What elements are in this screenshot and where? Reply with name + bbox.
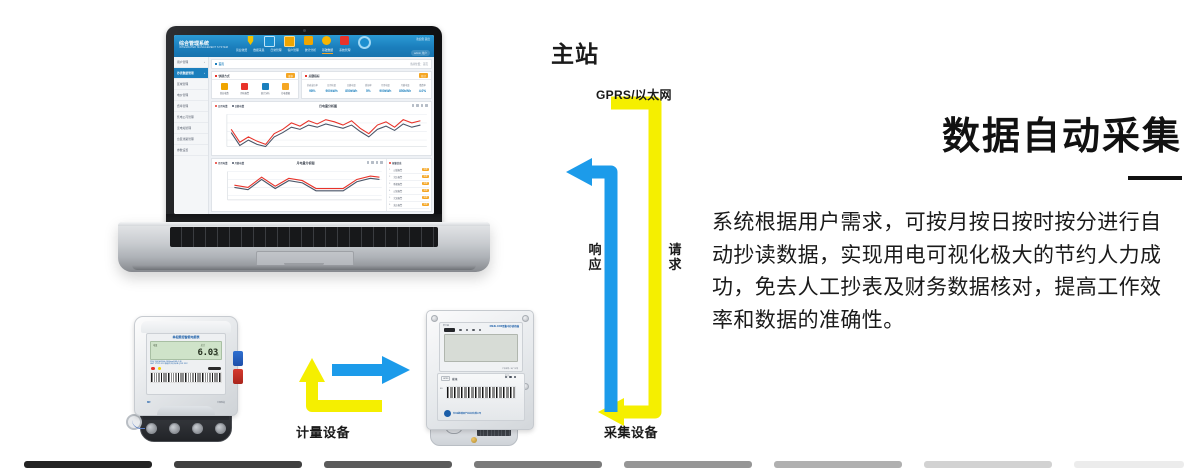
tab-home[interactable]: 首页	[215, 62, 224, 66]
meter-blue-button[interactable]	[233, 351, 243, 366]
erp-header: 综合管理系统 INTEGRATED MANAGEMENT SYSTEM	[174, 35, 434, 57]
collector-barcode-number: NO.	[440, 388, 443, 390]
sidebar-label-6: 变电站管理	[177, 126, 191, 130]
gprs-tag: GPRS	[441, 376, 450, 381]
menu-item-6[interactable]: 系统管理	[339, 48, 350, 54]
sidebar-item-3[interactable]: 电价管理	[174, 90, 208, 101]
alarm-n-4: 5	[389, 197, 392, 199]
sidebar-label-3: 电价管理	[177, 93, 188, 97]
metering-device-label: 计量设备	[296, 422, 350, 441]
monthly-chart-title: 月电量分析图	[297, 161, 315, 165]
erp-menu[interactable]: 营业收费 数据采集 日常管理 客户管理 统计分析 基础数据 系统管理	[236, 48, 350, 54]
tab-dot-icon	[215, 63, 217, 65]
doc-icon	[282, 83, 289, 90]
kpi-value-3: 5%	[365, 89, 372, 93]
collector-module-panel: GPRS 模 块 信号指示灯 NO. 长沙威胜能源产业技术有限公司	[437, 373, 525, 421]
collector-device: 集中器 XMJH-1000型集中抄表终端 产品编号 / 出厂日期 GPRS 模 …	[420, 306, 538, 446]
calendar-icon[interactable]	[284, 36, 295, 47]
promo-body: 系统根据用户需求，可按月按日按时按分进行自动抄读数据，实现用电可视化极大的节约人…	[712, 207, 1182, 337]
kpi-2: 日峰电量850kWh	[345, 83, 357, 93]
daily-legend-0: 日用电量	[215, 104, 228, 108]
alarm-list-title: 报警信息	[392, 161, 402, 165]
monthly-chart-tools[interactable]	[367, 161, 383, 164]
alarm-name-4: 欠流报警	[394, 196, 421, 200]
laptop-keyboard	[170, 227, 438, 247]
terminal-screw-3	[192, 423, 203, 434]
quick-item-3[interactable]: 抄表数据	[281, 83, 290, 95]
erp-main-content: 首页 当前位置：首页 快捷方式	[209, 57, 434, 214]
pie-chart-icon[interactable]	[322, 36, 331, 45]
alarm-n-3: 4	[389, 190, 392, 192]
bottom-bar-0	[24, 461, 152, 468]
collector-lcd	[444, 334, 518, 362]
monthly-legend-0: 月用电量	[215, 161, 228, 165]
bottom-bar-3	[474, 461, 602, 468]
daily-chart-card: 日用电量 日峰电量 日电量分析图	[211, 101, 432, 156]
monthly-chart-header: 月用电量 月峰电量 月电量分析图	[212, 159, 386, 166]
sidebar-item-8[interactable]: 参数设置	[174, 145, 208, 156]
kpi-value-1: 900kWh	[326, 89, 338, 93]
collector-led-row	[440, 328, 522, 332]
kpi-panel-badge[interactable]: 统计	[419, 73, 428, 78]
kpi-panel-header: 关键指标 统计	[302, 72, 431, 80]
bolt-icon	[221, 83, 228, 90]
master-station-label: 主站	[551, 35, 599, 69]
alarm-row-2[interactable]: 3断相报警处理	[389, 181, 429, 188]
panel-marker-icon	[215, 75, 217, 77]
edit-icon[interactable]	[264, 36, 275, 47]
daily-chart-plot	[212, 109, 431, 155]
bottom-bar-7	[1074, 461, 1184, 468]
daily-chart-tools[interactable]	[412, 104, 428, 107]
daily-legend-label-0: 日用电量	[218, 104, 228, 108]
alarm-badge-2[interactable]: 处理	[422, 182, 429, 185]
collector-screw-2	[522, 315, 529, 322]
meter-brand-sub: 中国制造	[217, 401, 225, 404]
alarm-name-3: 过流报警	[394, 189, 421, 193]
meter-ir-port	[208, 367, 221, 371]
meter-brand: MF	[147, 401, 151, 404]
meter-bottom-scoop	[157, 406, 215, 415]
collector-left-label: 集中器	[443, 324, 449, 327]
led-run-icon	[466, 329, 469, 332]
erp-application: 综合管理系统 INTEGRATED MANAGEMENT SYSTEM	[174, 35, 434, 214]
alarm-badge-5[interactable]: 处理	[422, 203, 429, 206]
kpi-label-1: 日用电量	[326, 83, 338, 87]
alarm-row-1[interactable]: 2欠压报警处理	[389, 174, 429, 181]
kpi-value-6: 4.0%	[419, 89, 426, 93]
kpi-label-5: 月峰电量	[399, 83, 411, 87]
menu-item-5[interactable]: 基础数据	[322, 48, 333, 54]
sidebar-item-5[interactable]: 售电公司管理	[174, 112, 208, 123]
daily-legend-1: 日峰电量	[232, 104, 245, 108]
alarm-n-0: 1	[389, 169, 392, 171]
user-name[interactable]: admin 用户	[411, 50, 430, 56]
request-label: 请求	[668, 243, 682, 273]
user-welcome[interactable]: 欢迎您 退出	[411, 37, 430, 41]
meter-barcode	[150, 372, 222, 383]
quick-items[interactable]: 营业收费 用电报警 统计分析 抄表数据	[212, 80, 298, 98]
metering-blue-shaft	[332, 364, 384, 376]
quick-panel-header: 快捷方式 更多	[212, 72, 298, 80]
laptop-illustration: 综合管理系统 INTEGRATED MANAGEMENT SYSTEM	[118, 26, 490, 294]
collector-gprs-module: GPRS 模 块	[441, 376, 457, 381]
gprs-module-text: 模 块	[452, 377, 457, 381]
erp-user-area[interactable]: 欢迎您 退出 admin 用户	[411, 37, 430, 59]
alarm-name-1: 欠压报警	[394, 175, 421, 179]
kpi-label-4: 月用电量	[379, 83, 391, 87]
sidebar-item-4[interactable]: 费率管理	[174, 101, 208, 112]
menu-item-0[interactable]: 营业收费	[236, 48, 247, 54]
erp-sidebar[interactable]: 用户管理› 抄表数据管理› 区域管理 电价管理 费率管理 售电公司管理 变电站管…	[174, 57, 209, 214]
quick-label-3: 抄表数据	[281, 91, 290, 95]
kpi-value-5: 850kWh	[399, 89, 411, 93]
kpi-value-2: 850kWh	[345, 89, 357, 93]
alarm-list[interactable]: 报警信息 1过载报警处理 2欠压报警处理 3断相报警处理 4过流报警处理 5欠流…	[386, 159, 431, 211]
quick-label-2: 统计分析	[261, 91, 270, 95]
panel-marker-icon-2	[305, 75, 307, 77]
kpi-1: 日用电量900kWh	[326, 83, 338, 93]
alarm-list-header: 报警信息	[389, 161, 429, 165]
webcam-icon	[303, 29, 306, 32]
quick-item-2[interactable]: 统计分析	[261, 83, 270, 95]
sidebar-label-7: 台区线路管理	[177, 137, 194, 141]
request-arrow-path	[611, 103, 655, 412]
kpi-3: 线损率5%	[365, 83, 372, 93]
erp-logo-subtext: INTEGRATED MANAGEMENT SYSTEM	[179, 47, 228, 50]
monthly-legend-label-0: 月用电量	[218, 161, 228, 165]
single-phase-meter: 单相费控智能电能表 电量 总计 6.03 kWh 220V 5(60)A 50H…	[126, 310, 244, 445]
chevron-icon-1: ›	[204, 71, 205, 75]
meter-title: 单相费控智能电能表	[147, 334, 225, 339]
sidebar-label-2: 区域管理	[177, 82, 188, 86]
alarm-name-5: 失压报警	[394, 203, 421, 207]
chevron-icon-0: ›	[204, 60, 205, 64]
quick-panel-title-wrap: 快捷方式	[215, 74, 230, 78]
lcd-unit: kWh	[214, 354, 219, 357]
kpi-panel-title-wrap: 关键指标	[305, 74, 320, 78]
collector-title: XMJH-1000型集中抄表终端	[490, 325, 520, 328]
monthly-legend-label-1: 月峰电量	[235, 161, 245, 165]
alarm-row-5[interactable]: 6失压报警处理	[389, 202, 429, 209]
metering-yellow-head	[299, 358, 325, 382]
erp-body: 用户管理› 抄表数据管理› 区域管理 电价管理 费率管理 售电公司管理 变电站管…	[174, 57, 434, 214]
sidebar-item-1[interactable]: 抄表数据管理›	[174, 68, 208, 79]
alarm-n-2: 3	[389, 183, 392, 185]
dashboard-panels: 快捷方式 更多 营业收费 用电报警 统计分析 抄表数据	[211, 71, 432, 99]
kpi-label-6: 缴费率	[419, 83, 426, 87]
bottom-bar-6	[924, 461, 1052, 468]
collection-device-label: 采集设备	[604, 422, 658, 441]
kpi-5: 月峰电量850kWh	[399, 83, 411, 93]
quick-panel-badge[interactable]: 更多	[286, 73, 295, 78]
bottom-bar-strip	[0, 461, 1200, 469]
sidebar-label-1: 抄表数据管理	[177, 71, 194, 75]
daily-chart-header: 日用电量 日峰电量 日电量分析图	[212, 102, 431, 109]
company-mark-icon	[444, 410, 451, 417]
bottom-bar-4	[624, 461, 752, 468]
monthly-chart-card: 月用电量 月峰电量 月电量分析图	[211, 158, 432, 212]
laptop-screen: 综合管理系统 INTEGRATED MANAGEMENT SYSTEM	[174, 35, 434, 214]
quick-item-1[interactable]: 用电报警	[240, 83, 249, 95]
laptop-lid: 综合管理系统 INTEGRATED MANAGEMENT SYSTEM	[166, 26, 442, 226]
response-arrow-path	[590, 172, 611, 412]
kpi-label-2: 日峰电量	[345, 83, 357, 87]
kpi-label-0: 抄表成功率	[307, 83, 318, 87]
daily-chart-svg	[214, 110, 429, 153]
monthly-legend-1: 月峰电量	[232, 161, 245, 165]
quick-label-0: 营业收费	[220, 91, 229, 95]
sidebar-label-0: 用户管理	[177, 60, 188, 64]
terminal-screw-2	[169, 423, 180, 434]
alarm-badge-3[interactable]: 处理	[422, 189, 429, 192]
lcd-label: 电量	[153, 343, 157, 347]
erp-tabbar[interactable]: 首页 当前位置：首页	[211, 59, 432, 69]
sidebar-label-4: 费率管理	[177, 104, 188, 108]
laptop-base-top	[118, 222, 490, 226]
alarm-badge-4[interactable]: 处理	[422, 196, 429, 199]
meter-face-plate: 单相费控智能电能表 电量 总计 6.03 kWh 220V 5(60)A 50H…	[146, 333, 226, 395]
alarm-name-2: 断相报警	[394, 182, 421, 186]
monthly-chart-wrap: 月用电量 月峰电量 月电量分析图	[212, 159, 431, 211]
diagram-stage: 综合管理系统 INTEGRATED MANAGEMENT SYSTEM	[0, 0, 1200, 475]
collector-screw-1	[431, 315, 438, 322]
meter-top-cover	[141, 321, 231, 333]
kpi-panel: 关键指标 统计 抄表成功率98% 日用电量900kWh 日峰电量850kWh 线…	[301, 71, 432, 99]
sidebar-item-0[interactable]: 用户管理›	[174, 57, 208, 68]
collector-sub-text: 产品编号 / 出厂日期	[502, 367, 518, 370]
meter-led-row	[147, 366, 225, 371]
erp-logo: 综合管理系统 INTEGRATED MANAGEMENT SYSTEM	[179, 42, 228, 51]
alarm-row-0[interactable]: 1过载报警处理	[389, 167, 429, 174]
page-title: 数据自动采集	[712, 118, 1182, 156]
bottom-bar-5	[774, 461, 902, 468]
promo-text-block: 数据自动采集 系统根据用户需求，可按月按日按时按分进行自动抄读数据，实现用电可视…	[712, 118, 1182, 337]
kpi-items: 抄表成功率98% 日用电量900kWh 日峰电量850kWh 线损率5% 月用电…	[302, 80, 431, 96]
collector-ir-window	[444, 328, 455, 332]
sidebar-item-6[interactable]: 变电站管理	[174, 123, 208, 134]
sidebar-label-5: 售电公司管理	[177, 115, 194, 119]
response-arrow-head	[566, 158, 592, 186]
alarm-n-5: 6	[389, 204, 392, 206]
kpi-value-0: 98%	[307, 89, 318, 93]
menu-item-1[interactable]: 数据采集	[253, 48, 264, 54]
link-label: GPRS/以太网	[596, 86, 672, 103]
lcd-label-2: 总计	[201, 343, 205, 347]
laptop-base-lip	[132, 265, 476, 270]
metering-yellow-path	[312, 380, 382, 406]
alarm-row-4[interactable]: 5欠流报警处理	[389, 195, 429, 202]
sidebar-label-8: 参数设置	[177, 148, 188, 152]
led-yellow-icon	[158, 367, 162, 371]
sidebar-item-2[interactable]: 区域管理	[174, 79, 208, 90]
quick-access-panel: 快捷方式 更多 营业收费 用电报警 统计分析 抄表数据	[211, 71, 299, 99]
quick-item-0[interactable]: 营业收费	[220, 83, 229, 95]
menu-item-2[interactable]: 日常管理	[270, 48, 281, 54]
kpi-value-4: 900kWh	[379, 89, 391, 93]
signal-dot-label: 信号指示灯	[505, 375, 510, 379]
meter-lcd: 电量 总计 6.03 kWh	[150, 341, 222, 360]
meter-red-button[interactable]	[233, 369, 243, 384]
bottom-bar-2	[324, 461, 452, 468]
kpi-0: 抄表成功率98%	[307, 83, 318, 93]
quick-panel-title: 快捷方式	[219, 74, 230, 78]
response-label: 响应	[588, 243, 602, 273]
bottom-bar-1	[174, 461, 302, 468]
laptop-base	[118, 222, 490, 272]
signal-dot-3	[514, 376, 516, 378]
collector-screw-gold	[471, 437, 477, 443]
alarm-badge-0[interactable]: 处理	[422, 168, 429, 171]
monthly-chart-svg	[214, 167, 384, 206]
alarm-n-1: 2	[389, 176, 392, 178]
kpi-6: 缴费率4.0%	[419, 83, 426, 93]
monthly-chart-plot	[212, 166, 386, 208]
title-rule	[1128, 176, 1182, 180]
mail-icon[interactable]	[340, 36, 349, 45]
collector-body: 集中器 XMJH-1000型集中抄表终端 产品编号 / 出厂日期 GPRS 模 …	[426, 310, 534, 430]
led-comm-icon	[472, 329, 475, 332]
list-icon[interactable]	[304, 36, 313, 45]
terminal-screw-4	[215, 423, 226, 434]
daily-chart-title: 日电量分析图	[319, 104, 337, 108]
alarm-badge-1[interactable]: 处理	[422, 175, 429, 178]
collector-barcode	[446, 386, 516, 399]
alarm-name-0: 过载报警	[394, 168, 421, 172]
meter-body: 单相费控智能电能表 电量 总计 6.03 kWh 220V 5(60)A 50H…	[134, 316, 238, 416]
breadcrumb: 当前位置：首页	[410, 62, 428, 66]
menu-item-3[interactable]: 客户管理	[288, 48, 299, 54]
led-alarm-icon	[479, 329, 482, 332]
quick-label-1: 用电报警	[240, 91, 249, 95]
menu-item-4[interactable]: 统计分析	[305, 48, 316, 54]
tab-home-label: 首页	[219, 62, 225, 66]
lightning-icon[interactable]	[246, 36, 255, 45]
company-name: 长沙威胜能源产业技术有限公司	[453, 412, 481, 415]
daily-legend-label-1: 日峰电量	[235, 104, 245, 108]
terminal-screw-1	[146, 423, 157, 434]
kpi-panel-title: 关键指标	[309, 74, 320, 78]
settings-icon[interactable]	[358, 36, 371, 49]
kpi-4: 月用电量900kWh	[379, 83, 391, 93]
metering-blue-head	[382, 356, 410, 384]
kpi-label-3: 线损率	[365, 83, 372, 87]
collector-signal-dots: 信号指示灯	[505, 376, 516, 378]
phone-icon	[241, 83, 248, 90]
sidebar-item-7[interactable]: 台区线路管理	[174, 134, 208, 145]
alarm-row-3[interactable]: 4过流报警处理	[389, 188, 429, 195]
collector-face-plate: 集中器 XMJH-1000型集中抄表终端 产品编号 / 出厂日期	[439, 322, 523, 372]
chart-icon	[262, 83, 269, 90]
collector-company-logo: 长沙威胜能源产业技术有限公司	[444, 410, 481, 417]
led-power-icon	[459, 329, 462, 332]
led-red-icon	[151, 367, 155, 371]
